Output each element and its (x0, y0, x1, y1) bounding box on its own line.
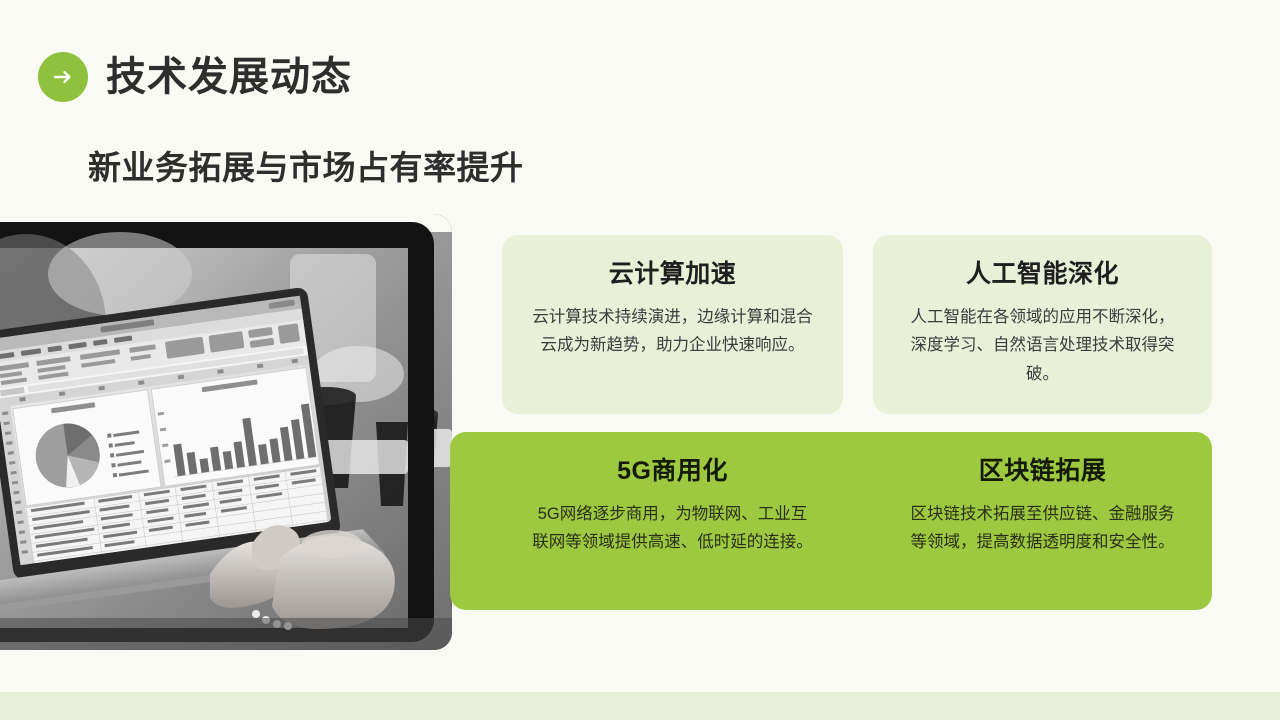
slide-header: 技术发展动态 (38, 52, 352, 102)
laptop-photo-frame (0, 214, 452, 650)
slide-subtitle: 新业务拓展与市场占有率提升 (88, 148, 524, 188)
card-title: 区块链拓展 (903, 458, 1182, 486)
laptop-photo (0, 214, 452, 650)
card-body: 人工智能在各领域的应用不断深化，深度学习、自然语言处理技术取得突破。 (903, 303, 1182, 390)
card-5g-commercialization[interactable]: 5G商用化 5G网络逐步商用，为物联网、工业互联网等领域提供高速、低时延的连接。 (502, 432, 843, 610)
card-title: 人工智能深化 (903, 261, 1182, 289)
bottom-accent-bar (0, 692, 1280, 720)
card-title: 5G商用化 (532, 458, 813, 486)
slide-root: 技术发展动态 新业务拓展与市场占有率提升 (0, 0, 1280, 720)
card-body: 云计算技术持续演进，边缘计算和混合云成为新趋势，助力企业快速响应。 (532, 303, 813, 361)
card-blockchain-expansion[interactable]: 区块链拓展 区块链技术拓展至供应链、金融服务等领域，提高数据透明度和安全性。 (873, 432, 1212, 610)
card-body: 区块链技术拓展至供应链、金融服务等领域，提高数据透明度和安全性。 (903, 500, 1182, 558)
page-title: 技术发展动态 (106, 57, 352, 97)
card-artificial-intelligence[interactable]: 人工智能深化 人工智能在各领域的应用不断深化，深度学习、自然语言处理技术取得突破… (873, 235, 1212, 414)
card-cloud-computing[interactable]: 云计算加速 云计算技术持续演进，边缘计算和混合云成为新趋势，助力企业快速响应。 (502, 235, 843, 414)
card-body: 5G网络逐步商用，为物联网、工业互联网等领域提供高速、低时延的连接。 (532, 500, 813, 558)
card-title: 云计算加速 (532, 261, 813, 289)
arrow-right-icon (38, 52, 88, 102)
